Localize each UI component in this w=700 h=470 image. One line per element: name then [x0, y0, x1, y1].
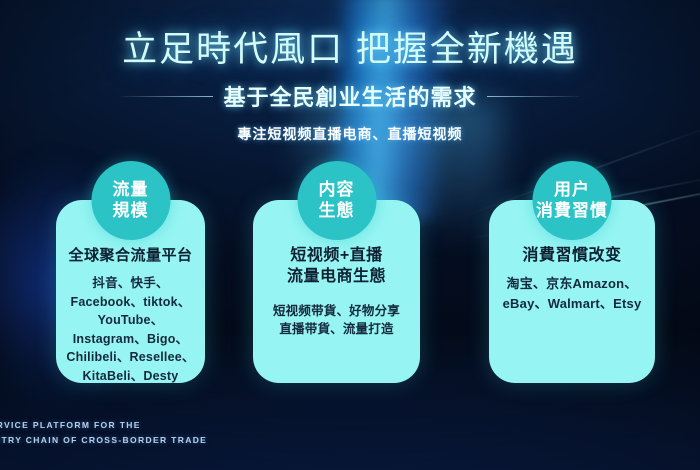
card-badge-line-2: 消費習慣 [536, 201, 608, 221]
subtitle-rule-right [487, 96, 579, 97]
card-heading: 全球聚合流量平台 [63, 246, 198, 265]
card-description: 淘宝、京东Amazon、eBay、Walmart、Etsy [496, 274, 648, 312]
subtitle-rule-left [121, 96, 213, 97]
presentation-slide: 立足時代風口 把握全新機遇 基于全民創业生活的需求 專注短视频直播电商、直播短视… [0, 0, 700, 470]
card-heading: 消費習慣改变 [496, 246, 648, 266]
feature-card-user-habits[interactable]: 用户 消費習慣 消費習慣改变 淘宝、京东Amazon、eBay、Walmart、… [489, 200, 655, 383]
footer-line-2: NDUSTRY CHAIN OF CROSS-BORDER TRADE [0, 433, 207, 448]
card-description: 抖音、快手、Facebook、tiktok、YouTube、Instagram、… [63, 274, 198, 385]
card-body: 全球聚合流量平台 抖音、快手、Facebook、tiktok、YouTube、I… [56, 246, 205, 385]
card-badge: 内容 生態 [297, 161, 376, 240]
card-badge-line-1: 内容 [319, 180, 355, 200]
card-badge-line-2: 規模 [113, 201, 149, 221]
page-subtitle: 基于全民創业生活的需求 [223, 80, 476, 112]
card-badge-line-1: 流量 [113, 180, 149, 200]
card-badge-line-2: 生態 [319, 201, 355, 221]
card-body: 短视频+直播流量电商生態 短视频带貨、好物分享直播带貨、流量打造 [253, 246, 420, 339]
card-body: 消費習慣改变 淘宝、京东Amazon、eBay、Walmart、Etsy [489, 246, 655, 313]
feature-card-content-ecosystem[interactable]: 内容 生態 短视频+直播流量电商生態 短视频带貨、好物分享直播带貨、流量打造 [253, 200, 420, 383]
page-title: 立足時代風口 把握全新機遇 [0, 30, 700, 69]
card-heading: 短视频+直播流量电商生態 [260, 246, 413, 288]
card-badge-line-1: 用户 [554, 180, 590, 200]
footer-line-1: P SERVICE PLATFORM FOR THE [0, 418, 207, 433]
card-badge: 用户 消費習慣 [533, 161, 612, 240]
feature-card-traffic-scale[interactable]: 流量 規模 全球聚合流量平台 抖音、快手、Facebook、tiktok、You… [56, 200, 205, 383]
page-tagline: 專注短视频直播电商、直播短视频 [0, 124, 700, 144]
footer-caption: P SERVICE PLATFORM FOR THE NDUSTRY CHAIN… [0, 418, 207, 448]
slide-header: 立足時代風口 把握全新機遇 基于全民創业生活的需求 專注短视频直播电商、直播短视… [0, 30, 700, 144]
card-badge: 流量 規模 [91, 161, 170, 240]
card-description: 短视频带貨、好物分享直播带貨、流量打造 [260, 302, 413, 340]
feature-card-group: 流量 規模 全球聚合流量平台 抖音、快手、Facebook、tiktok、You… [0, 160, 700, 390]
subtitle-row: 基于全民創业生活的需求 [0, 80, 700, 112]
